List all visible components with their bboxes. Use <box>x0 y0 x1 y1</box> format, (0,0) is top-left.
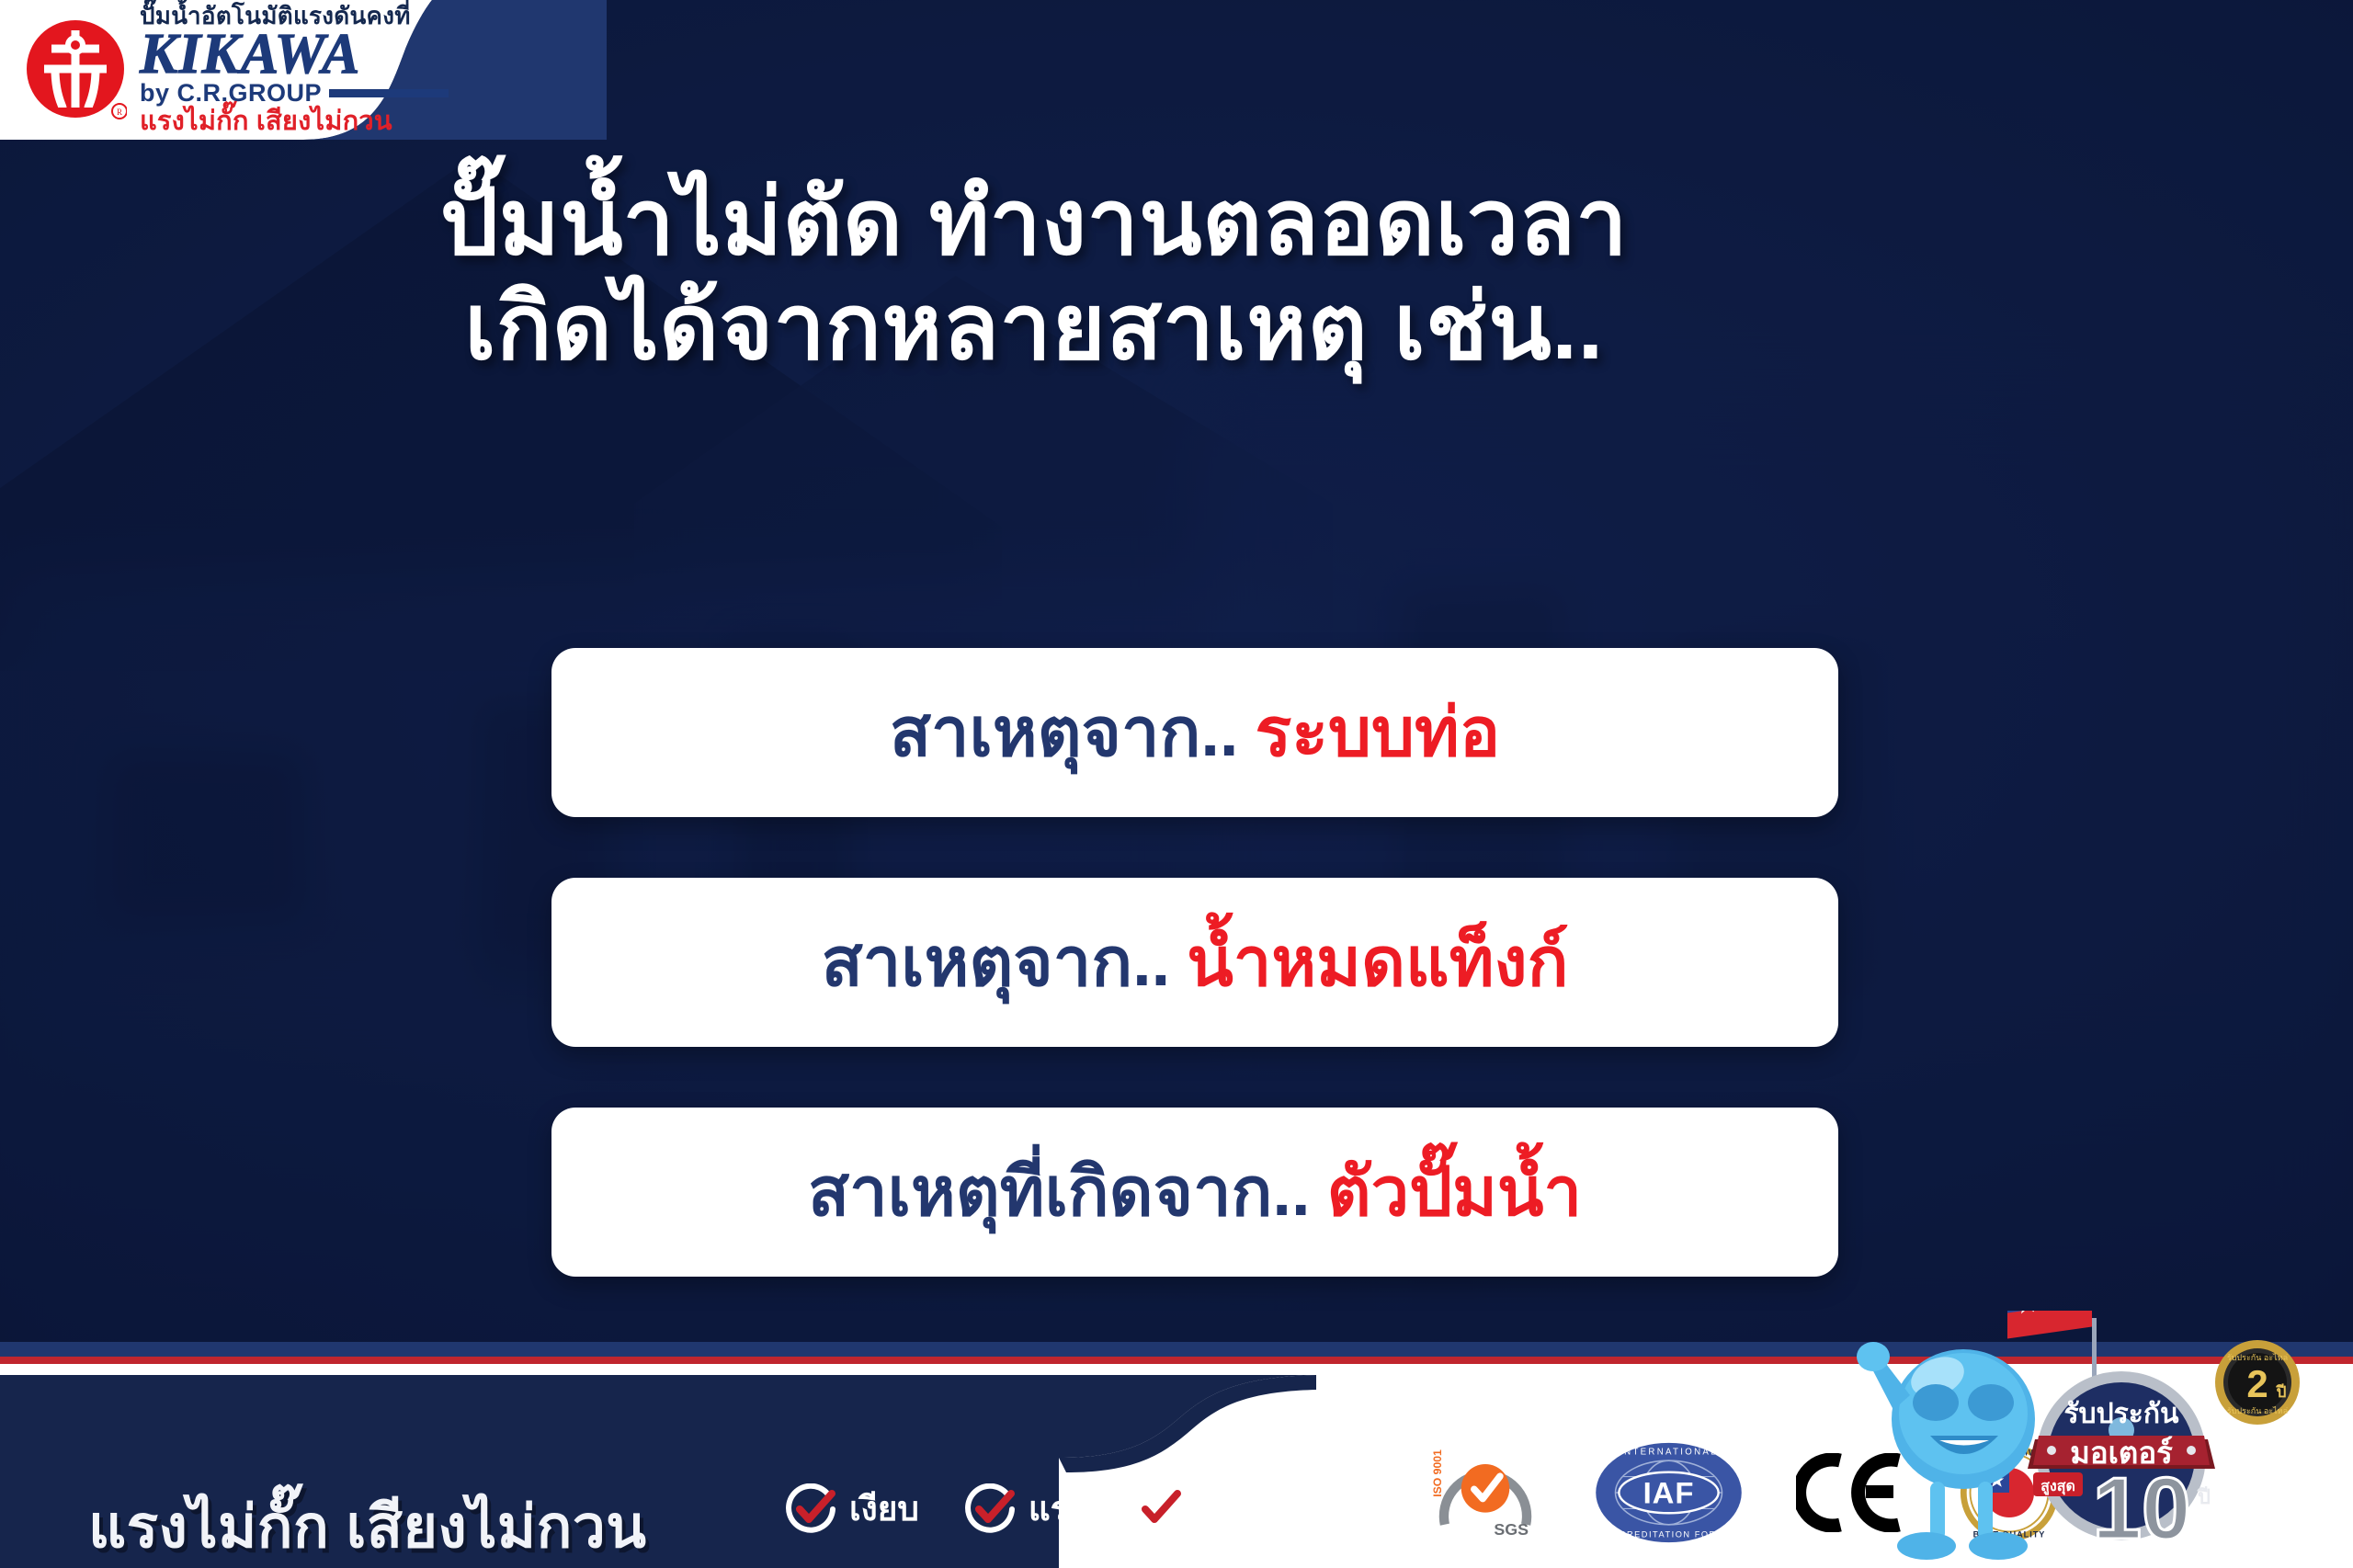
sgs-iso9001-logo-icon: ISO 9001 SGS <box>1429 1445 1541 1540</box>
svg-text:ACCREDITATION FORUM: ACCREDITATION FORUM <box>1605 1529 1733 1539</box>
svg-text:IAF: IAF <box>1643 1476 1695 1510</box>
reason-1-prefix: สาเหตุจาก.. <box>890 699 1239 767</box>
feature-badge-quiet-label: เงียบ <box>849 1482 919 1536</box>
check-circle-icon <box>786 1483 837 1535</box>
brand-logo-text: ปั๊มน้ำอัตโนมัติแรงดันคงที่ KIKAWA by C.… <box>140 4 449 135</box>
footer-bar: แรงไม่กั๊ก เสียงไม่กวน เงียบ <box>0 1342 2353 1568</box>
warranty-coin-unit: ปี <box>2276 1382 2287 1401</box>
feature-badge-strong: แรง <box>965 1482 1086 1536</box>
warranty-coin-years: 2 <box>2246 1362 2268 1405</box>
warranty-years: 10 <box>2093 1460 2191 1558</box>
feature-badge-confident: มั่นใจ <box>1131 1482 1277 1536</box>
svg-text:R: R <box>117 108 122 117</box>
warranty-title-text: รับประกัน <box>2063 1399 2179 1429</box>
logo-rule <box>329 89 449 97</box>
warranty-max-label: สูงสุด <box>2040 1479 2075 1496</box>
mascot-and-warranty: รับประกัน มอเตอร์ สูงสุด 10 ปี 2 ปี <box>1827 1311 2342 1568</box>
reason-card-list: สาเหตุจาก.. ระบบท่อ สาเหตุจาก.. น้ำหมดแท… <box>551 648 1838 1277</box>
reason-card-2[interactable]: สาเหตุจาก.. น้ำหมดแท็งก์ <box>551 878 1838 1047</box>
headline-line-2: เกิดได้จากหลายสาเหตุ เช่น.. <box>0 275 2068 380</box>
reason-3-highlight: ตัวปั๊มน้ำ <box>1327 1158 1583 1226</box>
logo-by-text: by C.R.GROUP <box>140 81 322 106</box>
brand-logo[interactable]: R ปั๊มน้ำอัตโนมัติแรงดันคงที่ KIKAWA by … <box>24 9 575 129</box>
reason-card-1[interactable]: สาเหตุจาก.. ระบบท่อ <box>551 648 1838 817</box>
reason-2-prefix: สาเหตุจาก.. <box>822 928 1171 996</box>
reason-1-highlight: ระบบท่อ <box>1256 699 1501 767</box>
feature-badge-quiet: เงียบ <box>786 1482 919 1536</box>
svg-text:INTERNATIONAL: INTERNATIONAL <box>1620 1447 1718 1457</box>
logo-by-line: by C.R.GROUP <box>140 81 449 106</box>
warranty-coin-top: รับประกัน อะไหล่ <box>2227 1353 2288 1362</box>
logo-slogan: แรงไม่กั๊ก เสียงไม่กวน <box>140 108 449 135</box>
water-drop-mascot <box>1857 1342 2035 1560</box>
svg-text:SGS: SGS <box>1494 1520 1529 1539</box>
check-circle-icon <box>965 1483 1017 1535</box>
warranty-coin-bottom: รับประกัน อะไหล่ <box>2227 1406 2288 1415</box>
feature-badge-confident-label: มั่นใจ <box>1195 1482 1277 1536</box>
warranty-years-unit: ปี <box>2197 1485 2211 1508</box>
check-circle-icon <box>1131 1483 1183 1535</box>
warranty-badge: รับประกัน มอเตอร์ สูงสุด 10 ปี 2 ปี <box>2028 1340 2300 1558</box>
feature-badge-strong-label: แรง <box>1029 1482 1086 1536</box>
footer-tagline: แรงไม่กั๊ก เสียงไม่กวน <box>88 1480 647 1568</box>
logo-wordmark: KIKAWA <box>140 26 449 83</box>
svg-text:ISO 9001: ISO 9001 <box>1431 1449 1444 1497</box>
footer-feature-badges: เงียบ แรง มั่นใจ <box>786 1482 1277 1536</box>
poster-root: R ปั๊มน้ำอัตโนมัติแรงดันคงที่ KIKAWA by … <box>0 0 2353 1568</box>
reason-card-3[interactable]: สาเหตุที่เกิดจาก.. ตัวปั๊มน้ำ <box>551 1108 1838 1277</box>
reason-3-prefix: สาเหตุที่เกิดจาก.. <box>808 1158 1311 1226</box>
kikawa-circle-mark-icon: R <box>24 17 127 120</box>
page-title: ปั๊มน้ำไม่ตัด ทำงานตลอดเวลา เกิดได้จากหล… <box>0 170 2068 380</box>
iaf-logo-icon: IAF INTERNATIONAL ACCREDITATION FORUM <box>1593 1439 1745 1546</box>
headline-line-1: ปั๊มน้ำไม่ตัด ทำงานตลอดเวลา <box>0 170 2068 275</box>
reason-2-highlight: น้ำหมดแท็งก์ <box>1187 928 1568 996</box>
